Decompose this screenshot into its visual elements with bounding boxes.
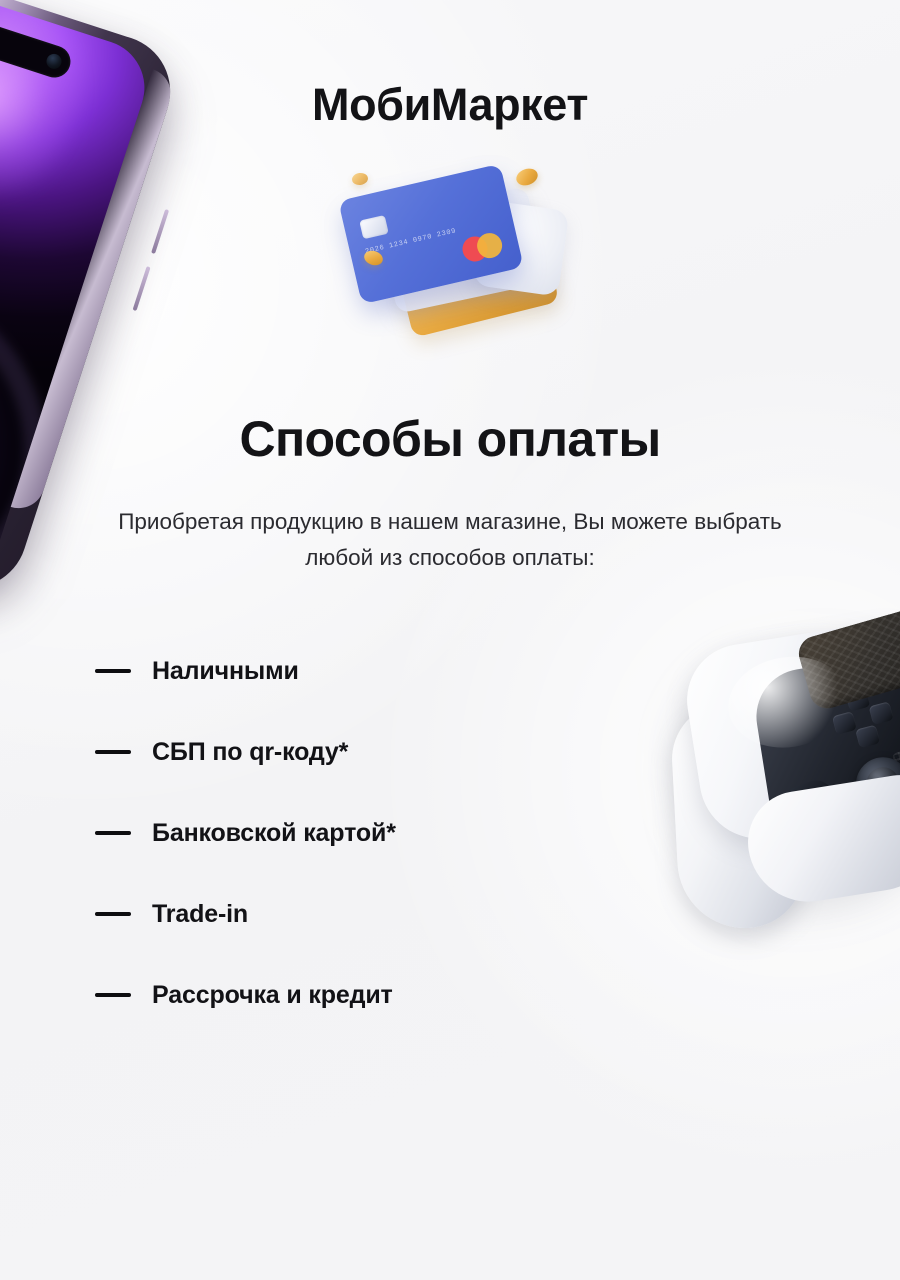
payment-method-label: Trade-in (152, 900, 248, 929)
page-title: Способы оплаты (0, 410, 900, 468)
payment-method-label: Наличными (152, 657, 299, 686)
dpad-left-button (832, 711, 857, 735)
dpad-right-button (869, 701, 894, 725)
card-chip-icon (359, 215, 389, 239)
coin-icon (514, 166, 540, 189)
payment-methods-list: Наличными СБП по qr-коду* Банковской кар… (95, 652, 615, 1014)
payment-cards-illustration: 2026 1234 0970 2309 (330, 163, 582, 338)
payment-method-label: Рассрочка и кредит (152, 981, 393, 1010)
volume-up-button (151, 209, 169, 254)
intro-paragraph: Приобретая продукцию в нашем магазине, В… (90, 504, 810, 577)
list-item: Наличными (95, 652, 615, 690)
list-item: Рассрочка и кредит (95, 976, 615, 1014)
dpad-down-button (855, 725, 880, 749)
payment-method-label: Банковской картой* (152, 819, 396, 848)
dash-bullet-icon (95, 831, 131, 835)
ps5-controller-image (640, 591, 900, 964)
coin-icon (351, 172, 369, 186)
mastercard-logo-icon (460, 230, 507, 264)
dash-bullet-icon (95, 669, 131, 673)
list-item: СБП по qr-коду* (95, 733, 615, 771)
front-camera-icon (45, 52, 64, 71)
store-title: МобиМаркет (0, 80, 900, 130)
volume-down-button (133, 266, 151, 311)
payment-method-label: СБП по qr-коду* (152, 738, 348, 767)
dash-bullet-icon (95, 993, 131, 997)
payment-methods-page: МобиМаркет 2026 1234 0970 2309 Способы о… (0, 0, 900, 1280)
list-item: Trade-in (95, 895, 615, 933)
dash-bullet-icon (95, 750, 131, 754)
dash-bullet-icon (95, 912, 131, 916)
list-item: Банковской картой* (95, 814, 615, 852)
